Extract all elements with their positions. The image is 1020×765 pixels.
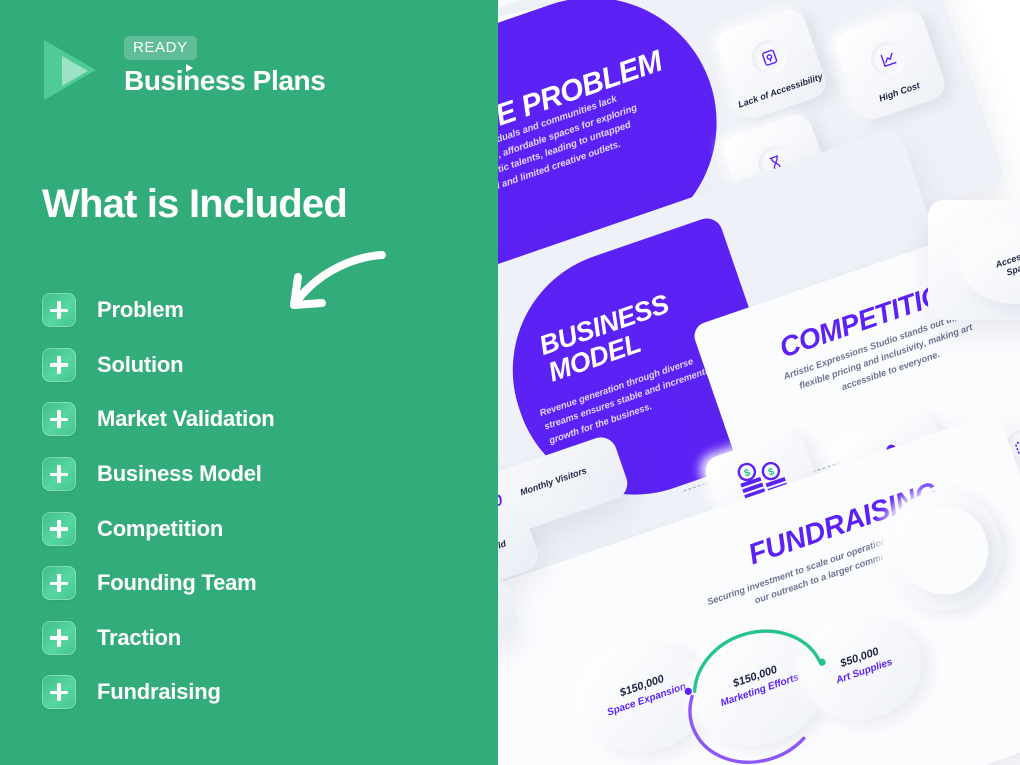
i-dot-triangle-icon	[186, 64, 193, 72]
brand-header: READY Business Plans	[44, 36, 325, 100]
edge-card-label: ield	[498, 530, 534, 563]
list-item-label: Business Model	[97, 461, 262, 487]
list-item-label: Solution	[97, 352, 183, 378]
brand-title-text: Business Plans	[124, 65, 325, 96]
list-item-label: Founding Team	[97, 570, 257, 596]
ready-badge: READY	[124, 36, 197, 60]
list-item-label: Competition	[97, 516, 223, 542]
list-item-label: Fundraising	[97, 679, 221, 705]
promo-graphic: THE PROBLEM Many individuals and communi…	[0, 0, 1020, 765]
included-list: Problem Solution Market Validation Busin…	[42, 283, 462, 720]
list-item[interactable]: Problem	[42, 283, 462, 338]
problem-card-high-cost[interactable]: High Cost	[832, 7, 949, 124]
list-item-label: Problem	[97, 297, 184, 323]
list-item[interactable]: Business Model	[42, 447, 462, 502]
lock-document-icon	[747, 36, 790, 79]
edge-card-accessible-spaces[interactable]: Accessible Spaces	[928, 200, 1020, 320]
problem-card-accessibility[interactable]: Lack of Accessibility	[713, 6, 830, 123]
chart-up-icon	[866, 37, 909, 80]
problem-card-label: Lack of Accessibility	[735, 71, 826, 112]
plus-icon	[42, 621, 76, 655]
list-item-label: Traction	[97, 625, 181, 651]
slides-preview-area: THE PROBLEM Many individuals and communi…	[498, 0, 1020, 765]
list-item[interactable]: Founding Team	[42, 556, 462, 611]
svg-text:$: $	[767, 466, 776, 478]
problem-card-label: High Cost	[854, 72, 945, 113]
left-info-panel: READY Business Plans What is Included Pr…	[0, 0, 498, 765]
list-item[interactable]: Traction	[42, 611, 462, 666]
plus-icon	[42, 457, 76, 491]
brand-title: Business Plans	[124, 65, 325, 97]
fundraising-progress-arcs	[658, 595, 877, 765]
plus-icon	[42, 402, 76, 436]
plus-icon	[42, 293, 76, 327]
list-item[interactable]: Market Validation	[42, 392, 462, 447]
list-item[interactable]: Competition	[42, 501, 462, 556]
svg-text:$: $	[743, 467, 752, 479]
play-triangle-logo-icon	[44, 38, 106, 100]
list-item[interactable]: Fundraising	[42, 665, 462, 720]
list-item-label: Market Validation	[97, 406, 275, 432]
page-title: What is Included	[42, 182, 347, 227]
plus-icon	[42, 348, 76, 382]
plus-icon	[42, 512, 76, 546]
list-item[interactable]: Solution	[42, 338, 462, 393]
plus-icon	[42, 675, 76, 709]
plus-icon	[42, 566, 76, 600]
